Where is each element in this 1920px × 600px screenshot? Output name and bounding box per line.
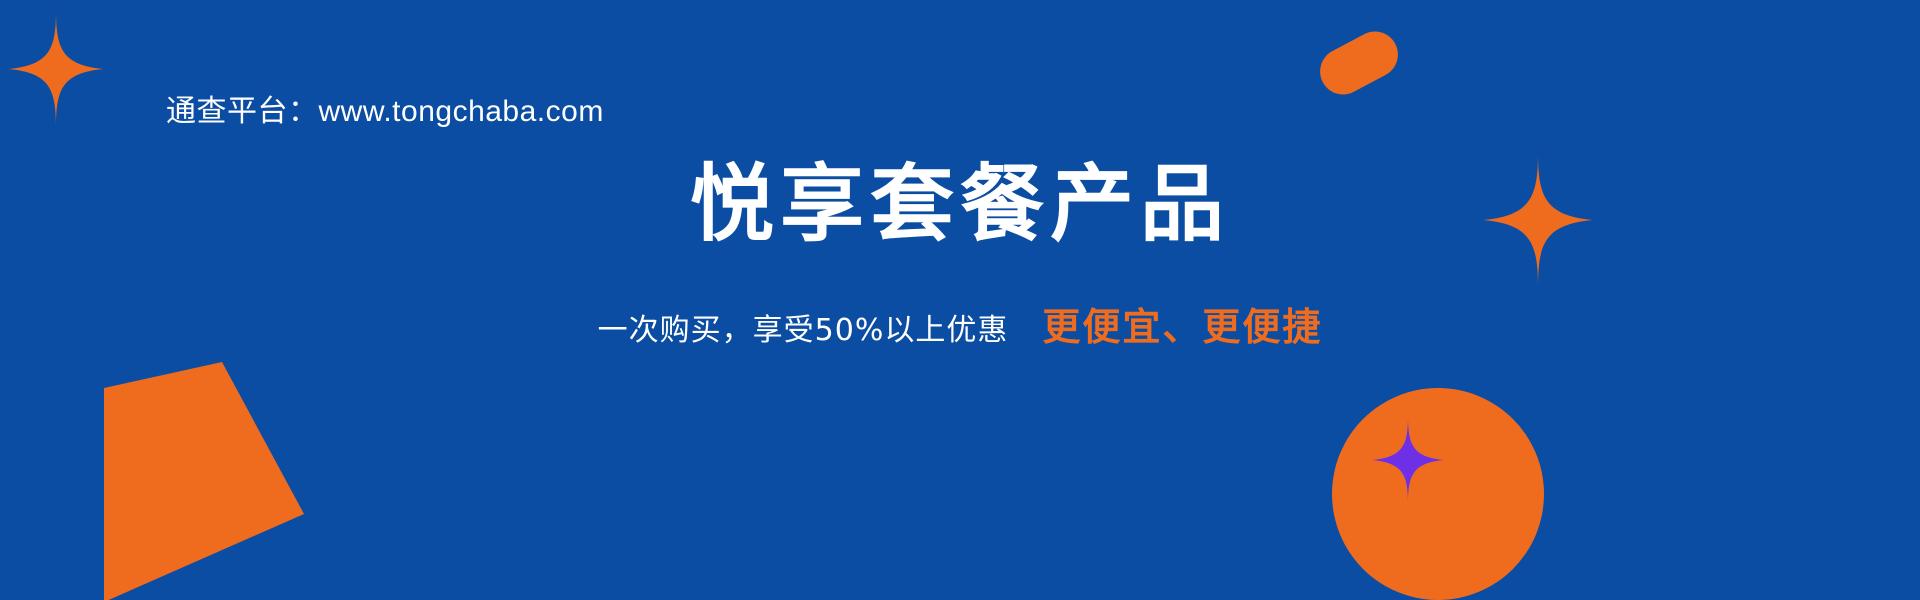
site-url[interactable]: www.tongchaba.com: [319, 95, 604, 128]
promo-banner: 通查平台：www.tongchaba.com 悦享套餐产品 一次购买，享受50%…: [0, 0, 1920, 600]
subtitle-row: 一次购买，享受50%以上优惠 更便宜、更便捷: [0, 296, 1920, 351]
page-title: 悦享套餐产品: [0, 158, 1920, 250]
site-line: 通查平台：www.tongchaba.com: [166, 86, 604, 130]
subtitle-plain-text: 一次购买，享受50%以上优惠: [598, 305, 1009, 349]
subtitle-highlight-text: 更便宜、更便捷: [1042, 296, 1322, 351]
site-label: 通查平台：: [166, 94, 319, 129]
